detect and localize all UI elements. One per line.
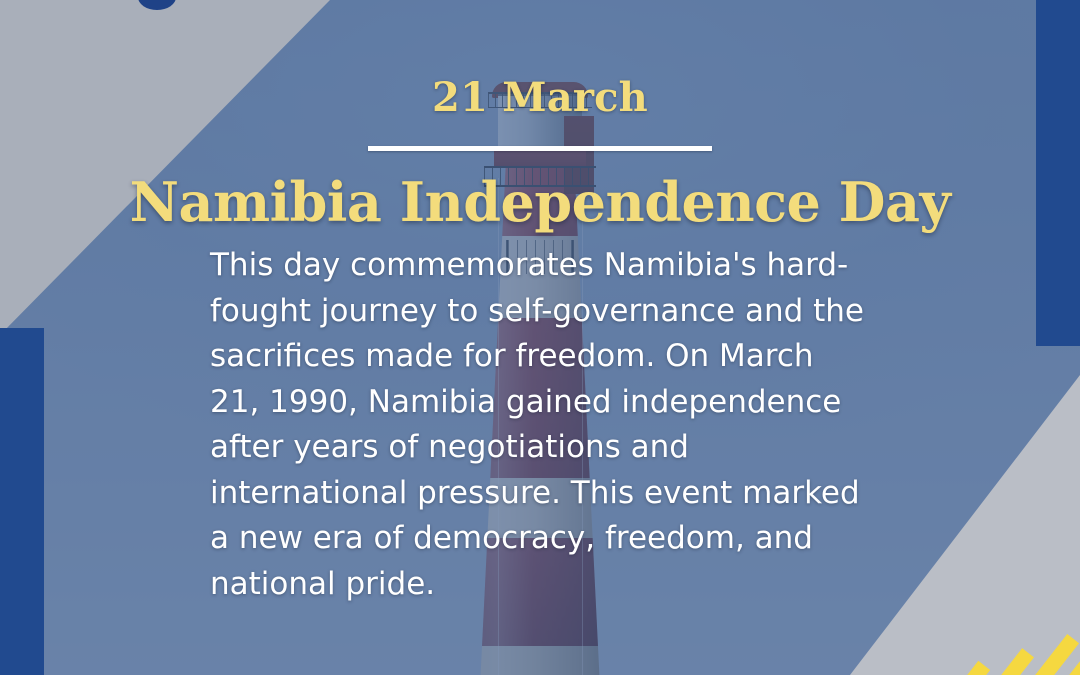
yellow-diagonal-stripes <box>940 617 1080 675</box>
independence-day-poster: 21 March Namibia Independence Day This d… <box>0 0 1080 675</box>
date-label: 21 March <box>0 0 1080 118</box>
page-title: Namibia Independence Day <box>0 151 1080 233</box>
yellow-stripe <box>984 648 1034 675</box>
poster-content: 21 March Namibia Independence Day This d… <box>0 0 1080 608</box>
yellow-stripe <box>950 661 990 675</box>
body-paragraph: This day commemorates Namibia's hard-fou… <box>210 243 870 608</box>
